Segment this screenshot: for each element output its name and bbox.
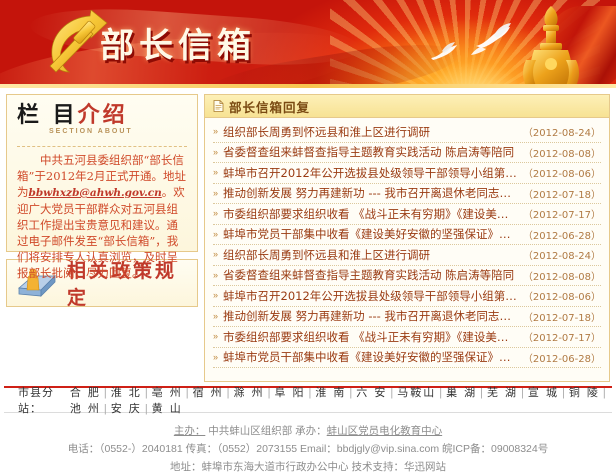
city-separator: | bbox=[227, 387, 231, 399]
footer-org-label: 承办： bbox=[295, 425, 327, 437]
dove-icon bbox=[428, 42, 458, 64]
news-title-link[interactable]: 市委组织部要求组织收看 《战斗正未有穷期》《建设美好安徽的坚强保证》影片 bbox=[223, 206, 518, 222]
city-link[interactable]: 合 肥 bbox=[70, 387, 101, 399]
chevron-right-icon: » bbox=[213, 271, 218, 280]
city-separator: | bbox=[309, 387, 313, 399]
chevron-right-icon: » bbox=[213, 127, 218, 136]
news-title-link[interactable]: 蚌埠市召开2012年公开选拔县处级领导干部领导小组第二次会议 bbox=[223, 288, 518, 304]
city-separator: | bbox=[268, 387, 272, 399]
chevron-right-icon: » bbox=[213, 189, 218, 198]
news-date: （2012-08-24） bbox=[523, 247, 601, 262]
news-title-link[interactable]: 蚌埠市召开2012年公开选拔县处级领导干部领导小组第二次会议 bbox=[223, 165, 518, 181]
section-about-header: 栏 目介绍 SECTION ABOUT bbox=[17, 103, 187, 143]
news-row[interactable]: »蚌埠市召开2012年公开选拔县处级领导干部领导小组第二次会议（2012-08-… bbox=[213, 163, 601, 184]
city-separator: | bbox=[104, 403, 108, 415]
news-row[interactable]: »推动创新发展 努力再建新功 --- 我市召开离退休老同志组织工作情况通报会（2… bbox=[213, 307, 601, 328]
city-link[interactable]: 巢 湖 bbox=[446, 387, 477, 399]
news-date: （2012-07-18） bbox=[523, 186, 601, 201]
city-link[interactable]: 六 安 bbox=[356, 387, 387, 399]
section-about-heading: 栏 目介绍 bbox=[17, 103, 187, 127]
site-footer: 主办： 中共蚌山区组织部 承办：蚌山区党员电化教育中心 电话：（0552-）20… bbox=[0, 413, 616, 476]
news-title-link[interactable]: 推动创新发展 努力再建新功 --- 我市召开离退休老同志组织工作情况通报会 bbox=[223, 185, 518, 201]
section-about-heading-en: SECTION ABOUT bbox=[49, 128, 187, 135]
city-separator: | bbox=[521, 387, 525, 399]
city-link[interactable]: 淮 南 bbox=[315, 387, 346, 399]
page-root: 部长信箱 栏 目介绍 SECTION ABOUT 中共五河县委组织部“部长信箱”… bbox=[0, 0, 616, 476]
city-link[interactable]: 安 庆 bbox=[111, 403, 142, 415]
news-row[interactable]: »推动创新发展 努力再建新功 --- 我市召开离退休老同志组织工作情况通报会（2… bbox=[213, 184, 601, 205]
city-link[interactable]: 滁 州 bbox=[234, 387, 265, 399]
city-separator: | bbox=[145, 387, 149, 399]
city-subsites-links: 合 肥|淮 北|亳 州|宿 州|滁 州|阜 阳|淮 南|六 安|马鞍山|巢 湖|… bbox=[70, 384, 612, 416]
news-row[interactable]: »省委督查组来蚌督查指导主题教育实践活动 陈启涛等陪同（2012-08-08） bbox=[213, 266, 601, 287]
news-date: （2012-06-28） bbox=[523, 227, 601, 242]
news-title-link[interactable]: 省委督查组来蚌督查指导主题教育实践活动 陈启涛等陪同 bbox=[223, 144, 518, 160]
section-about-heading-accent: 介绍 bbox=[78, 102, 128, 128]
news-date: （2012-08-06） bbox=[523, 165, 601, 180]
city-link[interactable]: 马鞍山 bbox=[397, 387, 436, 399]
news-row[interactable]: »组织部长周勇到怀远县和淮上区进行调研（2012-08-24） bbox=[213, 122, 601, 143]
chevron-right-icon: » bbox=[213, 291, 218, 300]
news-date: （2012-08-08） bbox=[523, 145, 601, 160]
news-date: （2012-08-24） bbox=[523, 124, 601, 139]
footer-line-address: 地址：蚌埠市东海大道市行政办公中心 技术支持：华迅网站 bbox=[0, 458, 616, 476]
city-link[interactable]: 黄 山 bbox=[152, 403, 183, 415]
section-header: 部长信箱回复 bbox=[205, 95, 609, 118]
chevron-right-icon: » bbox=[213, 353, 218, 362]
dove-icon bbox=[470, 22, 516, 56]
contact-email-link[interactable]: bbwhxzb@ahwh.gov.cn bbox=[29, 187, 162, 199]
city-link[interactable]: 淮 北 bbox=[111, 387, 142, 399]
chevron-right-icon: » bbox=[213, 312, 218, 321]
city-separator: | bbox=[186, 387, 190, 399]
site-banner: 部长信箱 bbox=[0, 0, 616, 88]
city-link[interactable]: 阜 阳 bbox=[274, 387, 305, 399]
city-separator: | bbox=[562, 387, 566, 399]
chevron-right-icon: » bbox=[213, 148, 218, 157]
news-row[interactable]: »市委组织部要求组织收看 《战斗正未有穷期》《建设美好安徽的坚强保证》影片（20… bbox=[213, 327, 601, 348]
city-separator: | bbox=[439, 387, 443, 399]
intro-text-part2: 。欢迎广大党员干部群众对五河县组织工作提出宝贵意见和建议。通过电子邮件发至“部长… bbox=[17, 185, 185, 280]
chevron-right-icon: » bbox=[213, 168, 218, 177]
news-date: （2012-07-17） bbox=[523, 206, 601, 221]
news-date: （2012-06-28） bbox=[523, 350, 601, 365]
news-list: »组织部长周勇到怀远县和淮上区进行调研（2012-08-24）»省委督查组来蚌督… bbox=[205, 118, 609, 381]
city-separator: | bbox=[349, 387, 353, 399]
content-area: 栏 目介绍 SECTION ABOUT 中共五河县委组织部“部长信箱”于2012… bbox=[0, 88, 616, 382]
news-title-link[interactable]: 省委督查组来蚌督查指导主题教育实践活动 陈启涛等陪同 bbox=[223, 267, 518, 283]
footer-line-contact: 电话：（0552-）2040181 传真：（0552）2073155 Email… bbox=[0, 440, 616, 458]
news-title-link[interactable]: 蚌埠市党员干部集中收看《建设美好安徽的坚强保证》专题片 bbox=[223, 349, 518, 365]
footer-org-value: 蚌山区党员电化教育中心 bbox=[327, 425, 443, 437]
city-subsites-bar: 市县分站： 合 肥|淮 北|亳 州|宿 州|滁 州|阜 阳|淮 南|六 安|马鞍… bbox=[4, 386, 612, 412]
city-link[interactable]: 池 州 bbox=[70, 403, 101, 415]
city-separator: | bbox=[480, 387, 484, 399]
news-date: （2012-07-17） bbox=[523, 329, 601, 344]
news-title-link[interactable]: 市委组织部要求组织收看 《战斗正未有穷期》《建设美好安徽的坚强保证》影片 bbox=[223, 329, 518, 345]
news-row[interactable]: »市委组织部要求组织收看 《战斗正未有穷期》《建设美好安徽的坚强保证》影片（20… bbox=[213, 204, 601, 225]
news-date: （2012-08-08） bbox=[523, 268, 601, 283]
news-title-link[interactable]: 蚌埠市党员干部集中收看《建设美好安徽的坚强保证》专题片 bbox=[223, 226, 518, 242]
city-link[interactable]: 宣 城 bbox=[528, 387, 559, 399]
news-row[interactable]: »蚌埠市党员干部集中收看《建设美好安徽的坚强保证》专题片（2012-06-28） bbox=[213, 225, 601, 246]
news-row[interactable]: »蚌埠市召开2012年公开选拔县处级领导干部领导小组第二次会议（2012-08-… bbox=[213, 286, 601, 307]
sidebar: 栏 目介绍 SECTION ABOUT 中共五河县委组织部“部长信箱”于2012… bbox=[6, 94, 198, 382]
city-separator: | bbox=[145, 403, 149, 415]
chevron-right-icon: » bbox=[213, 209, 218, 218]
page-title: 部长信箱 bbox=[100, 18, 256, 67]
city-separator: | bbox=[603, 387, 607, 399]
city-link[interactable]: 芜 湖 bbox=[487, 387, 518, 399]
section-about-heading-main: 栏 目 bbox=[17, 102, 78, 128]
chevron-right-icon: » bbox=[213, 230, 218, 239]
news-date: （2012-07-18） bbox=[523, 309, 601, 324]
minister-mailbox-replies-panel: 部长信箱回复 »组织部长周勇到怀远县和淮上区进行调研（2012-08-24）»省… bbox=[204, 94, 610, 382]
golden-torch-icon bbox=[520, 6, 582, 88]
section-title: 部长信箱回复 bbox=[229, 97, 310, 116]
news-row[interactable]: »组织部长周勇到怀远县和淮上区进行调研（2012-08-24） bbox=[213, 245, 601, 266]
city-link[interactable]: 宿 州 bbox=[193, 387, 224, 399]
news-date: （2012-08-06） bbox=[523, 288, 601, 303]
section-about-text: 中共五河县委组织部“部长信箱”于2012年2月正式开通。地址为bbwhxzb@a… bbox=[17, 152, 187, 281]
section-about-panel: 栏 目介绍 SECTION ABOUT 中共五河县委组织部“部长信箱”于2012… bbox=[6, 94, 198, 252]
city-subsites-label: 市县分站： bbox=[18, 384, 68, 416]
city-link[interactable]: 亳 州 bbox=[152, 387, 183, 399]
news-row[interactable]: »省委督查组来蚌督查指导主题教育实践活动 陈启涛等陪同（2012-08-08） bbox=[213, 143, 601, 164]
news-title-link[interactable]: 组织部长周勇到怀远县和淮上区进行调研 bbox=[223, 247, 518, 263]
city-separator: | bbox=[390, 387, 394, 399]
city-separator: | bbox=[104, 387, 108, 399]
news-row[interactable]: »蚌埠市党员干部集中收看《建设美好安徽的坚强保证》专题片（2012-06-28） bbox=[213, 348, 601, 369]
city-link[interactable]: 铜 陵 bbox=[569, 387, 600, 399]
footer-host-value: 中共蚌山区组织部 bbox=[208, 425, 292, 437]
document-icon bbox=[213, 100, 224, 112]
news-title-link[interactable]: 推动创新发展 努力再建新功 --- 我市召开离退休老同志组织工作情况通报会 bbox=[223, 308, 518, 324]
divider-dashed bbox=[17, 146, 187, 147]
chevron-right-icon: » bbox=[213, 332, 218, 341]
footer-line-host: 主办： 中共蚌山区组织部 承办：蚌山区党员电化教育中心 bbox=[0, 422, 616, 440]
chevron-right-icon: » bbox=[213, 250, 218, 259]
footer-host-label: 主办： bbox=[174, 425, 206, 437]
news-title-link[interactable]: 组织部长周勇到怀远县和淮上区进行调研 bbox=[223, 124, 518, 140]
